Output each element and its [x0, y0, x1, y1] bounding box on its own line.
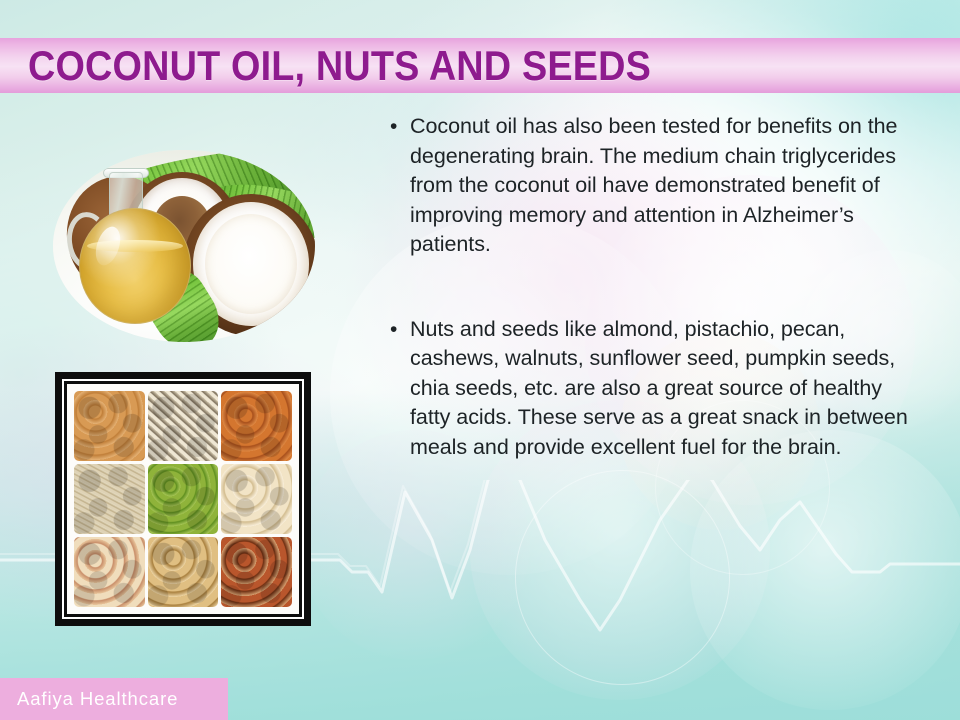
nut-cell-cashews	[221, 464, 292, 534]
nut-cell-almonds	[74, 391, 145, 461]
footer-brand-badge: Aafiya Healthcare	[0, 678, 228, 720]
coconut-oil-photo	[53, 150, 315, 342]
oil-jug-body	[79, 208, 191, 324]
coconut-hollow-front	[205, 214, 297, 314]
slide-canvas: COCONUT OIL, NUTS AND SEEDS	[0, 0, 960, 720]
nut-cell-pistachios	[148, 464, 219, 534]
nut-cell-peanuts	[74, 537, 145, 607]
nut-cell-walnuts	[148, 537, 219, 607]
brand-name: Aafiya Healthcare	[17, 688, 178, 710]
bullet-text-coconut-oil: Coconut oil has also been tested for ben…	[410, 112, 915, 260]
photo-inner-frame	[62, 379, 304, 619]
title-banner: COCONUT OIL, NUTS AND SEEDS	[0, 38, 960, 93]
bullet-marker-icon: •	[390, 315, 410, 345]
nut-cell-brazil-nuts	[221, 537, 292, 607]
bullet-item-coconut-oil: • Coconut oil has also been tested for b…	[390, 112, 915, 260]
bullet-marker-icon: •	[390, 112, 410, 142]
page-title: COCONUT OIL, NUTS AND SEEDS	[28, 44, 651, 88]
nut-cell-sunflower-seeds	[148, 391, 219, 461]
nut-cell-sesame-seeds	[74, 464, 145, 534]
nuts-and-seeds-grid-photo	[55, 372, 311, 626]
coconut-oil-photo-inner	[53, 150, 315, 342]
nut-cell-hazelnuts	[221, 391, 292, 461]
bullet-item-nuts-and-seeds: • Nuts and seeds like almond, pistachio,…	[390, 315, 915, 463]
body-text-column: • Coconut oil has also been tested for b…	[390, 112, 915, 462]
nuts-grid	[67, 384, 299, 614]
bullet-text-nuts-and-seeds: Nuts and seeds like almond, pistachio, p…	[410, 315, 915, 463]
